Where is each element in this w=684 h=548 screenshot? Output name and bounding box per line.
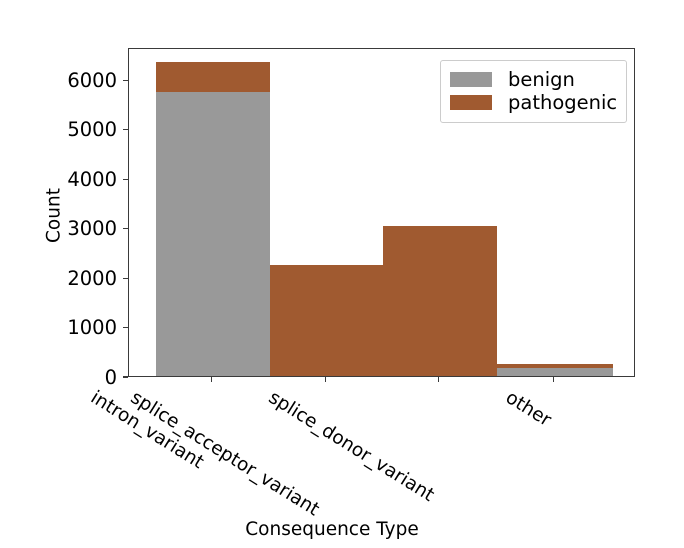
bar-segment-splice_donor_variant-pathogenic[interactable]	[383, 226, 497, 376]
x-tick-label-other: other	[502, 387, 555, 431]
legend-item-pathogenic: pathogenic	[450, 91, 617, 114]
bar-segment-other-benign[interactable]	[497, 368, 614, 376]
legend-label-pathogenic: pathogenic	[508, 93, 617, 113]
bar-segment-intron_variant-pathogenic[interactable]	[156, 62, 270, 92]
y-tick-label: 0	[13, 368, 117, 388]
y-axis-title: Count	[44, 156, 65, 276]
y-tick-label: 5000	[13, 120, 117, 140]
y-tick-label: 1000	[13, 318, 117, 338]
bar-chart-figure: 0100020003000400050006000 Count intron_v…	[0, 0, 684, 548]
y-tick-label: 4000	[13, 170, 117, 190]
bar-splice_acceptor_variant[interactable]	[270, 49, 384, 376]
legend-swatch-pathogenic	[450, 95, 492, 110]
x-tick-mark	[438, 377, 439, 382]
bar-segment-other-pathogenic[interactable]	[497, 364, 614, 367]
bar-segment-intron_variant-benign[interactable]	[156, 92, 270, 376]
chart-legend: benign pathogenic	[440, 60, 627, 123]
x-axis-title: Consequence Type	[232, 519, 432, 540]
bar-intron_variant[interactable]	[156, 49, 270, 376]
x-tick-mark	[553, 377, 554, 382]
legend-swatch-benign	[450, 72, 492, 87]
y-tick-label: 3000	[13, 219, 117, 239]
bar-segment-splice_acceptor_variant-pathogenic[interactable]	[270, 265, 384, 376]
y-tick-label: 6000	[13, 71, 117, 91]
legend-label-benign: benign	[508, 70, 575, 90]
y-tick-label: 2000	[13, 269, 117, 289]
x-tick-mark	[325, 377, 326, 382]
legend-item-benign: benign	[450, 68, 617, 91]
x-tick-mark	[211, 377, 212, 382]
